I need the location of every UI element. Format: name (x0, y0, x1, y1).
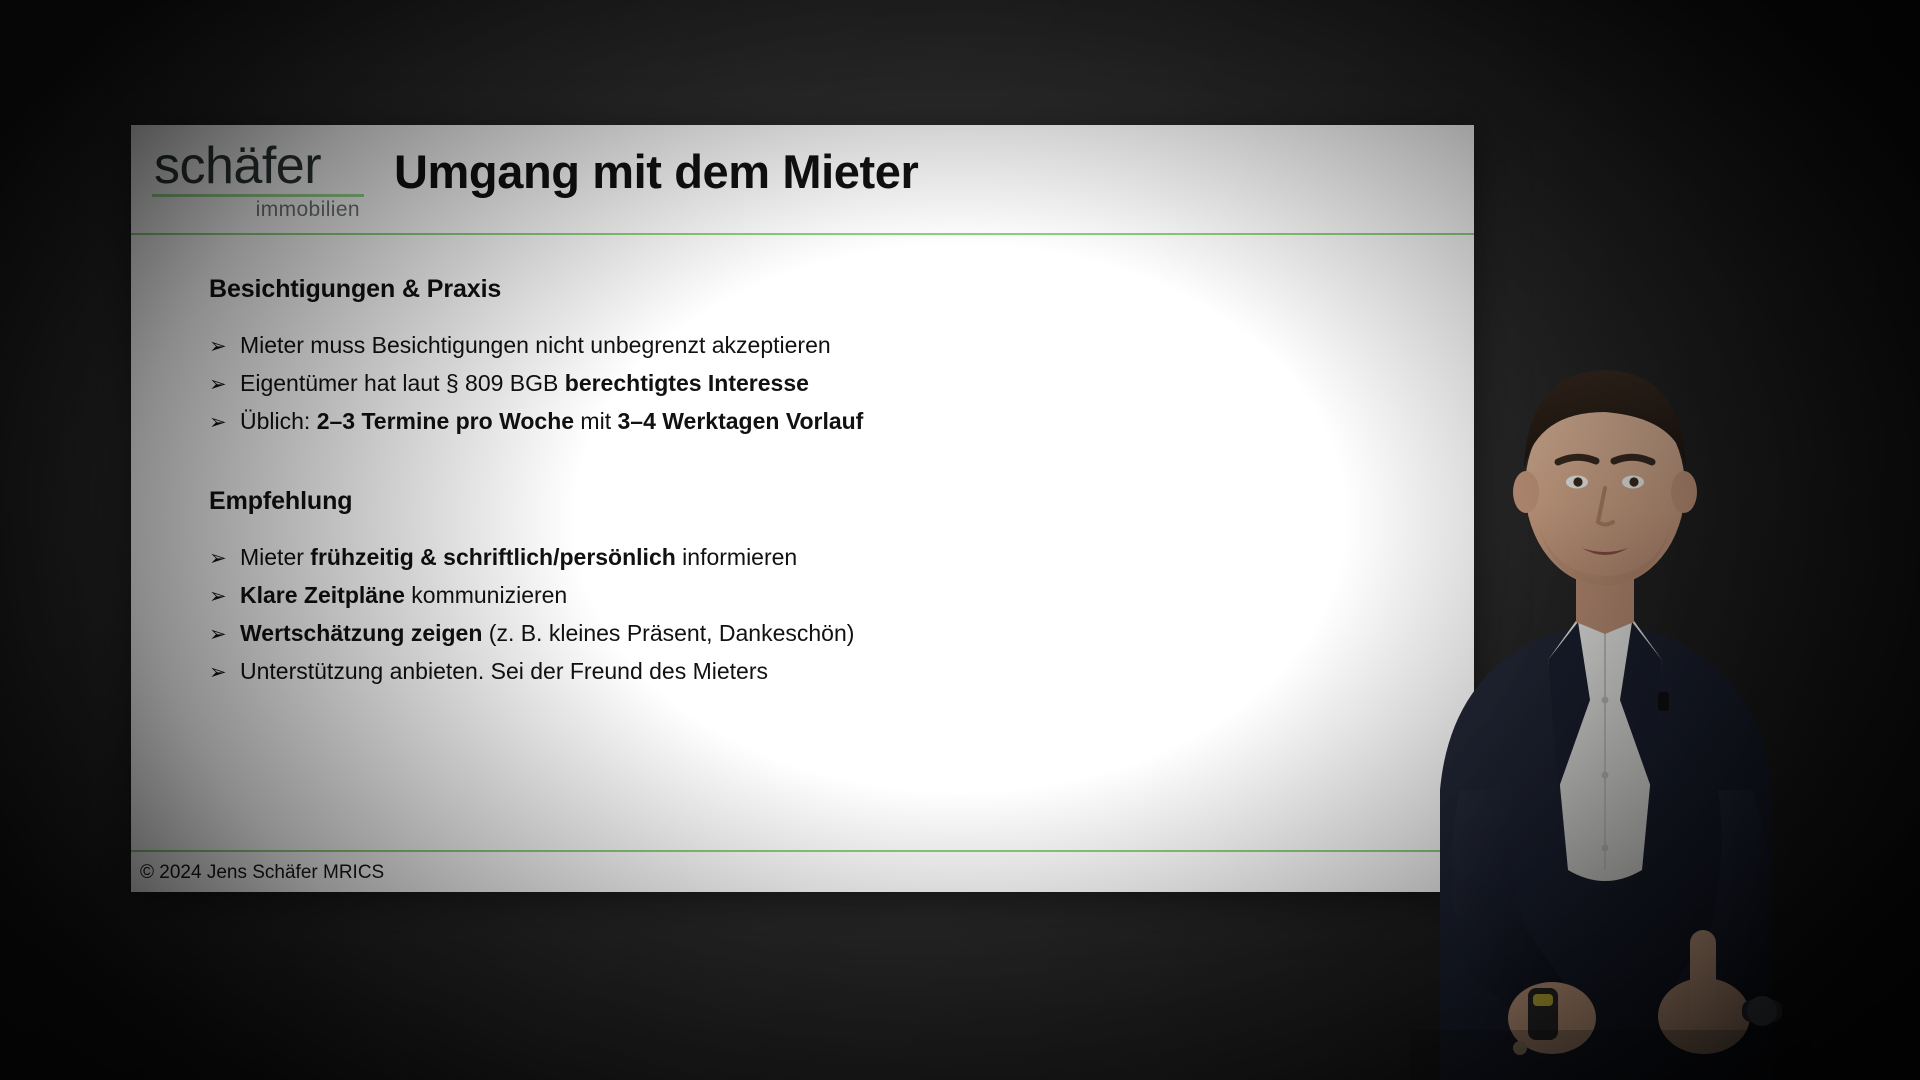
bullet-list: ➢Mieter frühzeitig & schriftlich/persönl… (209, 546, 1474, 683)
suit-lapel-left (1548, 622, 1590, 790)
brand-logo-word: schäfer (148, 141, 366, 192)
slide-title: Umgang mit dem Mieter (366, 144, 918, 225)
bullet-item: ➢Mieter muss Besichtigungen nicht unbegr… (209, 334, 1474, 357)
bullet-item: ➢Mieter frühzeitig & schriftlich/persönl… (209, 546, 1474, 569)
bullet-text: Eigentümer hat laut § 809 BGB berechtigt… (240, 372, 809, 395)
bullet-item: ➢Klare Zeitpläne kommunizieren (209, 584, 1474, 607)
dress-shirt (1548, 618, 1662, 881)
eye-left (1566, 476, 1588, 489)
slide-body: Besichtigungen & Praxis ➢Mieter muss Bes… (131, 235, 1474, 683)
bullet-arrow-icon: ➢ (209, 548, 240, 569)
ring-left (1513, 1041, 1527, 1055)
bullet-plain: (z. B. kleines Präsent, Dankeschön) (482, 620, 854, 646)
bullet-text: Wertschätzung zeigen (z. B. kleines Präs… (240, 622, 854, 645)
section-heading: Empfehlung (209, 487, 1474, 516)
bullet-emphasis: Wertschätzung zeigen (240, 620, 482, 646)
neck (1576, 560, 1634, 634)
shirt-button (1602, 697, 1609, 704)
mouth (1582, 548, 1628, 555)
bullet-plain: kommunizieren (405, 582, 567, 608)
bullet-plain: Eigentümer hat laut § 809 BGB (240, 370, 565, 396)
shirt-button (1602, 845, 1609, 852)
bullet-plain: informieren (676, 544, 797, 570)
bullet-item: ➢Eigentümer hat laut § 809 BGB berechtig… (209, 372, 1474, 395)
bullet-emphasis: 3–4 Werktagen Vorlauf (618, 408, 864, 434)
bullet-text: Mieter muss Besichtigungen nicht unbegre… (240, 334, 831, 357)
bullet-plain: Üblich: (240, 408, 317, 434)
copyright-text: © 2024 Jens Schäfer MRICS (131, 862, 1474, 884)
wristwatch (1742, 1000, 1782, 1022)
bullet-list: ➢Mieter muss Besichtigungen nicht unbegr… (209, 334, 1474, 433)
bullet-item: ➢Üblich: 2–3 Termine pro Woche mit 3–4 W… (209, 410, 1474, 433)
bullet-text: Mieter frühzeitig & schriftlich/persönli… (240, 546, 797, 569)
bullet-text: Klare Zeitpläne kommunizieren (240, 584, 567, 607)
figure-bottom-fade (1410, 1030, 1810, 1080)
presenter-clicker (1528, 988, 1558, 1040)
face (1525, 390, 1685, 586)
bullet-emphasis: frühzeitig & schriftlich/persönlich (310, 544, 675, 570)
slide-footer: © 2024 Jens Schäfer MRICS (131, 850, 1474, 892)
bullet-arrow-icon: ➢ (209, 586, 240, 607)
jawline-shadow (1538, 522, 1672, 586)
bullet-arrow-icon: ➢ (209, 662, 240, 683)
shirt-button (1602, 772, 1609, 779)
bullet-arrow-icon: ➢ (209, 624, 240, 645)
suit-torso (1440, 622, 1772, 1080)
bullet-item: ➢Wertschätzung zeigen (z. B. kleines Prä… (209, 622, 1474, 645)
slide-section: Besichtigungen & Praxis ➢Mieter muss Bes… (209, 275, 1474, 433)
nose (1598, 488, 1613, 525)
section-heading: Besichtigungen & Praxis (209, 275, 1474, 304)
bullet-item: ➢Unterstützung anbieten. Sei der Freund … (209, 660, 1474, 683)
hand-left (1508, 982, 1596, 1054)
clicker-button (1533, 994, 1553, 1006)
eye-right (1622, 476, 1644, 489)
brand-logo-subtitle: immobilien (148, 198, 366, 221)
presentation-slide: schäfer immobilien Umgang mit dem Mieter… (131, 125, 1474, 892)
slide-header: schäfer immobilien Umgang mit dem Mieter (131, 125, 1474, 225)
pupil-left (1573, 477, 1582, 486)
arm-right (1670, 790, 1772, 1022)
footer-divider (131, 850, 1474, 852)
bullet-text: Üblich: 2–3 Termine pro Woche mit 3–4 We… (240, 410, 863, 433)
bullet-arrow-icon: ➢ (209, 412, 240, 433)
bullet-text: Unterstützung anbieten. Sei der Freund d… (240, 660, 768, 683)
bullet-plain: mit (574, 408, 617, 434)
bullet-plain: Unterstützung anbieten. Sei der Freund d… (240, 658, 768, 684)
slide-section: Empfehlung ➢Mieter frühzeitig & schriftl… (209, 487, 1474, 683)
bullet-emphasis: berechtigtes Interesse (565, 370, 809, 396)
bullet-emphasis: 2–3 Termine pro Woche (317, 408, 574, 434)
eyebrow-left (1558, 457, 1596, 462)
ear-right (1671, 471, 1697, 513)
video-stage: schäfer immobilien Umgang mit dem Mieter… (0, 0, 1920, 1080)
watch-face (1747, 996, 1777, 1026)
eyebrow-right (1614, 457, 1652, 462)
suit-lapel-right (1620, 622, 1662, 790)
bullet-arrow-icon: ➢ (209, 336, 240, 357)
lavalier-mic (1658, 692, 1669, 711)
hand-right (1658, 978, 1750, 1054)
bullet-arrow-icon: ➢ (209, 374, 240, 395)
pupil-right (1629, 477, 1638, 486)
brand-logo: schäfer immobilien (148, 141, 366, 225)
section-spacer (209, 448, 1474, 487)
bullet-emphasis: Klare Zeitpläne (240, 582, 405, 608)
bullet-plain: Mieter (240, 544, 310, 570)
ear-left (1513, 471, 1539, 513)
bullet-plain: Mieter muss Besichtigungen nicht unbegre… (240, 332, 831, 358)
hair (1524, 370, 1686, 468)
index-finger-right (1690, 930, 1716, 1026)
